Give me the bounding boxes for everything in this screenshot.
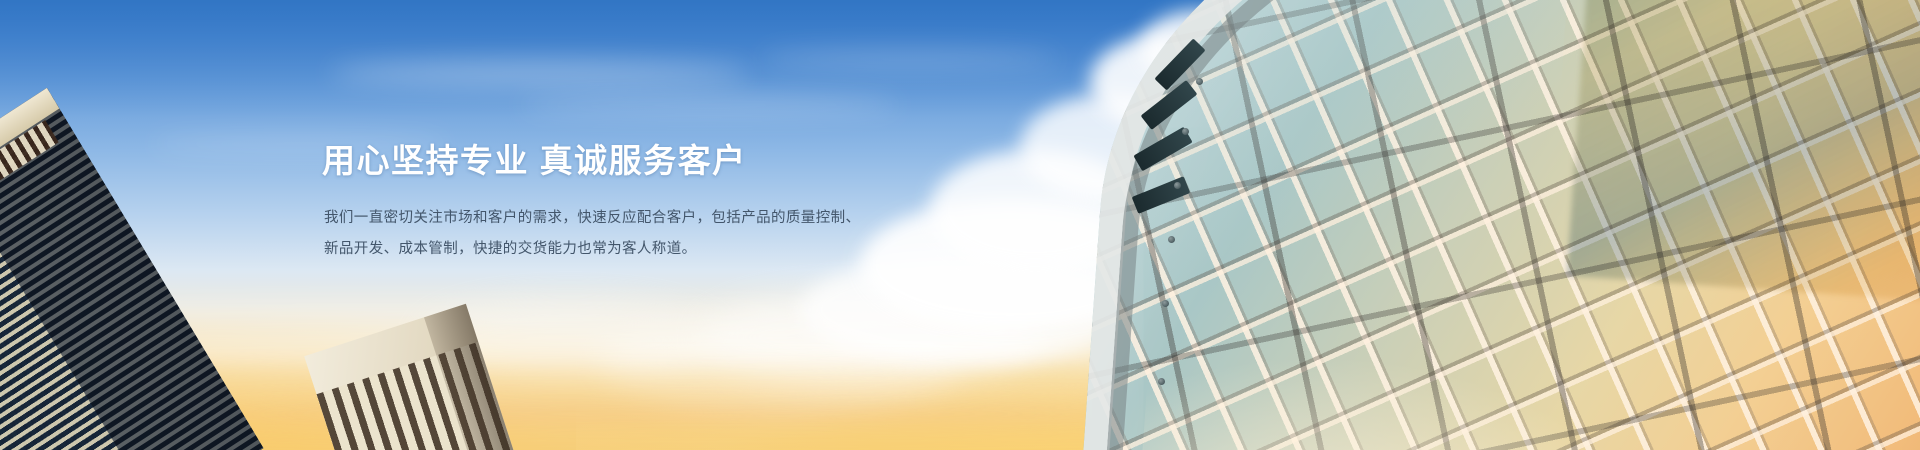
facade-rivet [1182, 128, 1189, 135]
cloud-streak-mid [520, 95, 900, 115]
curved-glass-building [1074, 0, 1920, 450]
facade-rivet [1196, 78, 1203, 85]
banner-headline: 用心坚持专业 真诚服务客户 [322, 140, 1022, 181]
banner-content: 用心坚持专业 真诚服务客户 我们一直密切关注市场和客户的需求，快速反应配合客户，… [322, 140, 1022, 264]
facade-rivet [1174, 182, 1181, 189]
glass-sun-glow [1129, 169, 1846, 450]
banner-body-copy: 我们一直密切关注市场和客户的需求，快速反应配合客户，包括产品的质量控制、 新品开… [324, 203, 824, 264]
banner-body-line: 新品开发、成本管制，快捷的交货能力也常为客人称道。 [324, 234, 824, 264]
haze-band-gold [60, 372, 1210, 398]
banner-body-line: 我们一直密切关注市场和客户的需求，快速反应配合客户，包括产品的质量控制、 [324, 203, 824, 233]
facade-rivet [1168, 236, 1175, 243]
cloud-streak-upper [330, 60, 750, 86]
hero-banner: 用心坚持专业 真诚服务客户 我们一直密切关注市场和客户的需求，快速反应配合客户，… [0, 0, 1920, 450]
cloud-streak-upper-right [760, 50, 1060, 68]
facade-rivet [1162, 300, 1169, 307]
facade-rivet [1158, 378, 1165, 385]
